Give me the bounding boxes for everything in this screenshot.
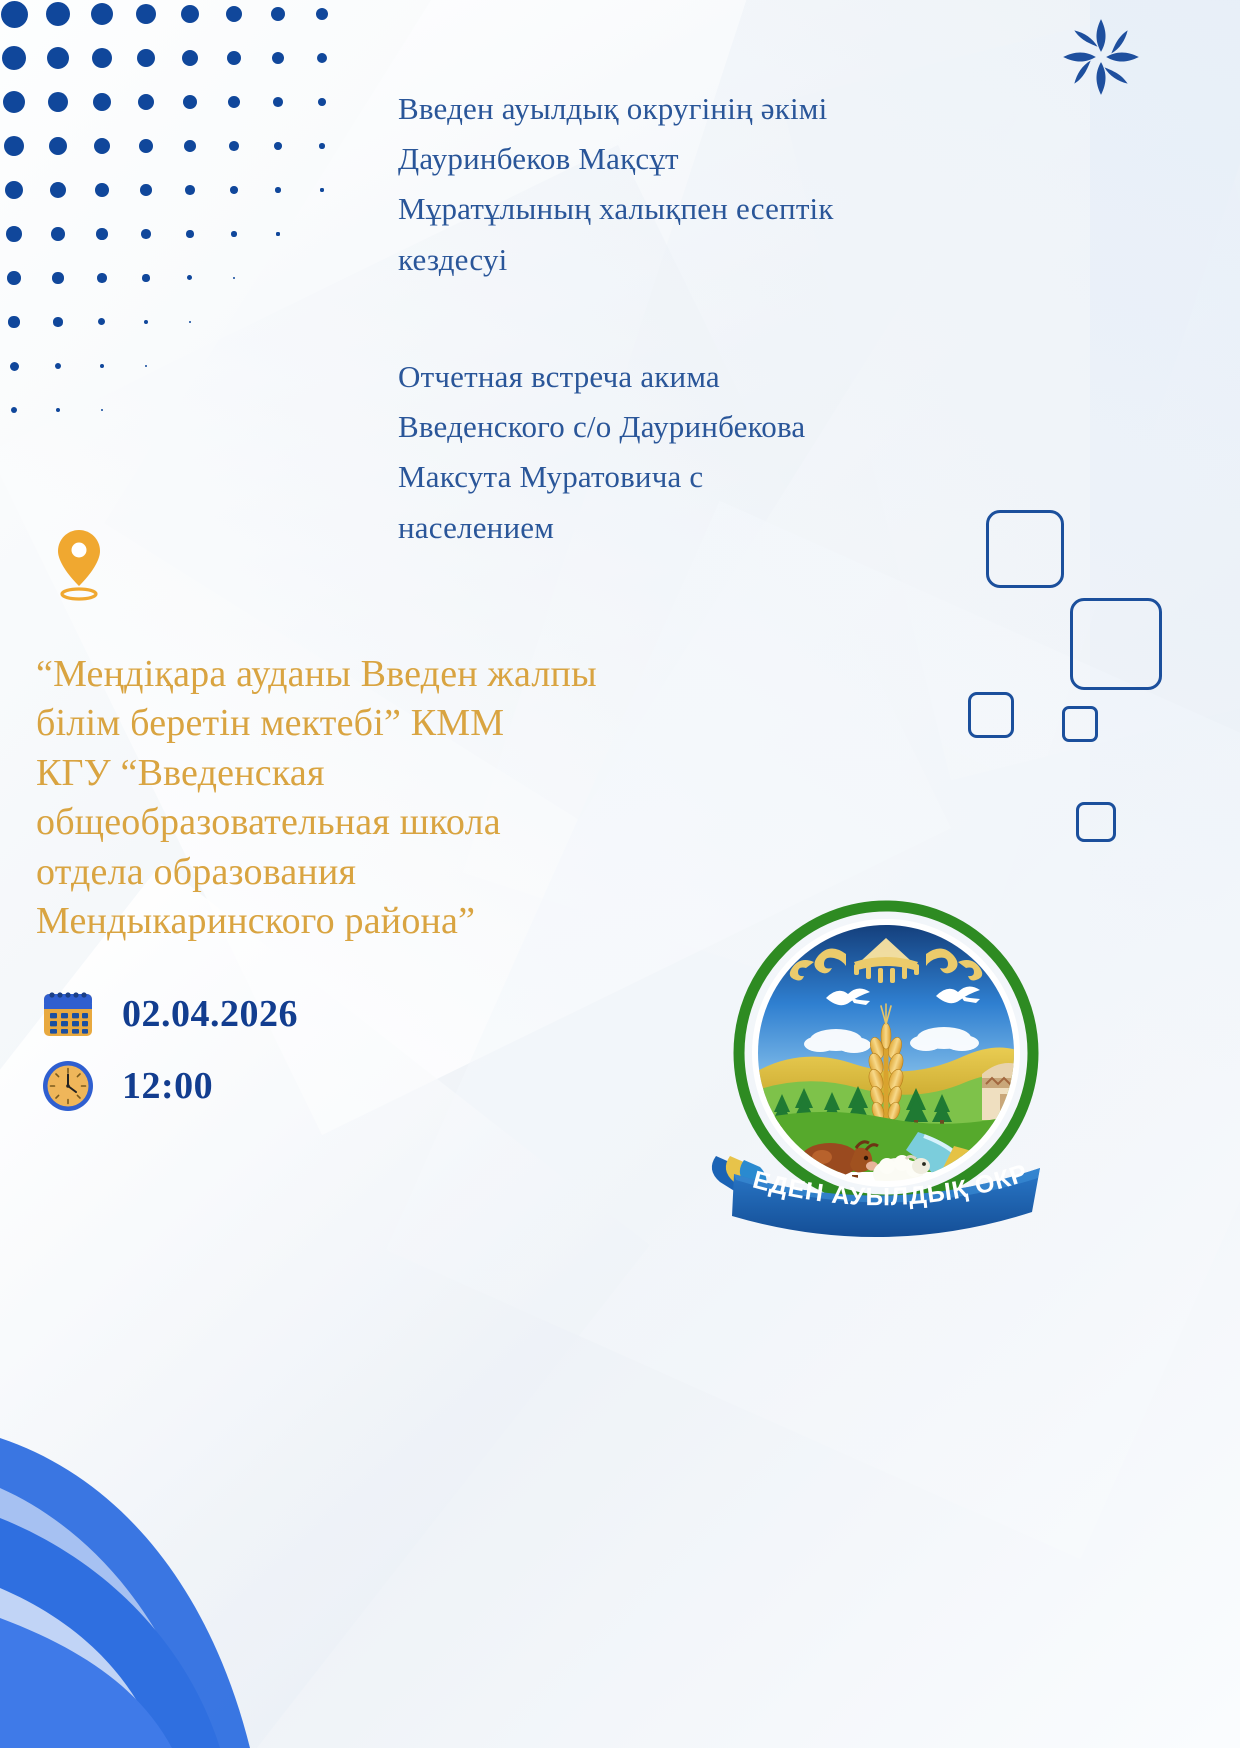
grid-dot [233,277,236,280]
grid-dot [91,3,114,26]
decorative-rounded-square [968,692,1014,738]
grid-dot [49,137,67,155]
heading-kazakh: Введен ауылдық округінің әкімі Дауринбек… [398,84,1038,285]
heading-kazakh-line: Мұратұлының халықпен есептік [398,184,1038,234]
heading-russian-line: населением [398,503,1018,553]
grid-dot [141,229,150,238]
grid-dot [93,93,111,111]
grid-dot [2,46,27,71]
venue-title-line: білім беретін мектебі” КММ [36,699,876,748]
map-pin-icon [55,528,103,602]
grid-dot [52,272,63,283]
grid-dot [142,274,149,281]
venue-title-line: КГУ “Введенская [36,749,876,798]
grid-dot [97,273,106,282]
dot-grid-pattern [0,0,360,440]
grid-dot [7,271,21,285]
decorative-rounded-square [1062,706,1098,742]
heading-russian-line: Введенского с/о Дауринбекова [398,402,1018,452]
venue-title-line: общеобразовательная школа [36,798,876,847]
village-district-emblem: ВВЕДЕН АУЫЛДЫҚ ОКРУГІ [686,888,1086,1248]
heading-kazakh-line: кездесуі [398,235,1038,285]
grid-dot [137,49,155,67]
grid-dot [98,318,105,325]
grid-dot [53,317,62,326]
grid-dot [136,4,157,25]
grid-dot [317,53,327,63]
grid-dot [100,364,105,369]
grid-dot [144,320,149,325]
grid-dot [138,94,154,110]
heading-russian-line: Максута Муратовича с [398,452,1018,502]
grid-dot [139,139,153,153]
event-time-row: 12:00 [40,1050,298,1122]
grid-dot [186,230,193,237]
calendar-icon [40,986,96,1042]
grid-dot [6,226,22,242]
grid-dot [185,185,195,195]
grid-dot [50,182,66,198]
grid-dot [1,1,28,28]
grid-dot [55,363,62,370]
grid-dot [3,91,26,114]
grid-dot [189,321,192,324]
flower-ornament-icon [1058,14,1144,100]
grid-dot [101,409,104,412]
heading-russian: Отчетная встреча акима Введенского с/о Д… [398,352,1018,553]
event-details: 02.04.2026 [40,978,298,1122]
decorative-rounded-square [1076,802,1116,842]
venue-title-line: “Меңдіқара ауданы Введен жалпы [36,650,876,699]
grid-dot [231,231,236,236]
poster-canvas: Введен ауылдық округінің әкімі Дауринбек… [0,0,1240,1748]
grid-dot [4,136,24,156]
grid-dot [229,141,239,151]
grid-dot [228,96,240,108]
grid-dot [319,143,324,148]
grid-dot [275,187,280,192]
grid-dot [227,51,241,65]
grid-dot [320,188,323,191]
grid-dot [10,362,19,371]
grid-dot [47,47,70,70]
background-facet [1090,0,1240,1748]
grid-dot [96,228,108,240]
grid-dot [273,97,283,107]
event-date-row: 02.04.2026 [40,978,298,1050]
grid-dot [8,316,19,327]
grid-dot [181,5,200,24]
grid-dot [140,184,152,196]
grid-dot [11,407,18,414]
grid-dot [276,232,279,235]
heading-russian-line: Отчетная встреча акима [398,352,1018,402]
heading-kazakh-line: Введен ауылдық округінің әкімі [398,84,1038,134]
grid-dot [56,408,61,413]
grid-dot [182,50,198,66]
grid-dot [226,6,242,22]
grid-dot [272,52,284,64]
grid-dot [183,95,197,109]
event-time: 12:00 [122,1064,213,1108]
bottom-wave-decoration [0,1188,560,1748]
grid-dot [95,183,109,197]
grid-dot [51,227,65,241]
grid-dot [92,48,113,69]
heading-kazakh-line: Дауринбеков Мақсұт [398,134,1038,184]
grid-dot [48,92,68,112]
grid-dot [5,181,23,199]
grid-dot [271,7,285,21]
grid-dot [274,142,282,150]
event-date: 02.04.2026 [122,992,298,1036]
grid-dot [230,186,237,193]
decorative-rounded-square [1070,598,1162,690]
grid-dot [145,365,148,368]
grid-dot [94,138,110,154]
grid-dot [316,8,328,20]
grid-dot [184,140,196,152]
grid-dot [46,2,71,27]
grid-dot [187,275,192,280]
clock-icon [40,1058,96,1114]
grid-dot [318,98,326,106]
